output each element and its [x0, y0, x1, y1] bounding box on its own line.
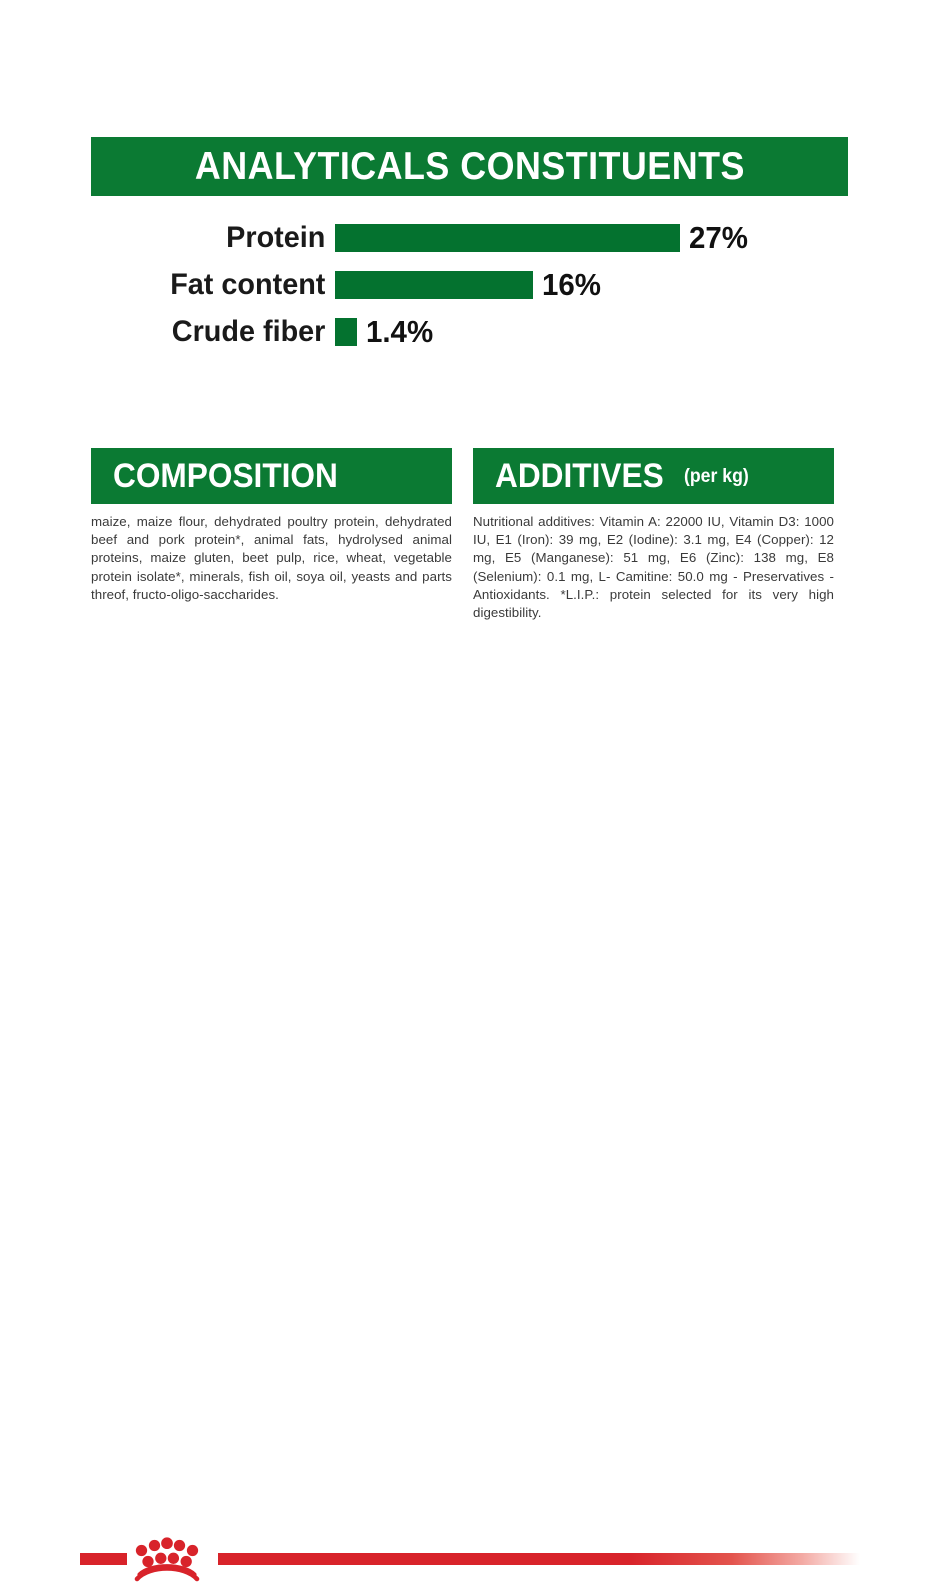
composition-text: maize, maize flour, dehydrated poultry p…	[91, 513, 452, 604]
composition-section: COMPOSITION maize, maize flour, dehydrat…	[91, 448, 452, 622]
bar-label-fat-content: Fat content	[101, 270, 335, 300]
composition-header-bar: COMPOSITION	[91, 448, 452, 504]
bar-track-crude-fiber: 1.4%	[335, 316, 848, 347]
additives-section: ADDITIVES (per kg) Nutritional additives…	[473, 448, 834, 622]
bar-value-fat-content: 16%	[542, 269, 601, 300]
additives-text: Nutritional additives: Vitamin A: 22000 …	[473, 513, 834, 622]
bar-label-protein: Protein	[101, 223, 335, 253]
footer-rule-right	[218, 1553, 860, 1565]
bar-label-crude-fiber: Crude fiber	[101, 317, 335, 347]
bar-value-protein: 27%	[689, 222, 748, 253]
additives-header-bar: ADDITIVES (per kg)	[473, 448, 834, 504]
additives-subheading: (per kg)	[684, 467, 749, 486]
footer-rule-left	[80, 1553, 127, 1565]
product-info-panel: ANALYTICALS CONSTITUENTS Protein 27% Fat…	[0, 0, 940, 940]
bar-track-protein: 27%	[335, 222, 848, 253]
chart-row-crude-fiber: Crude fiber 1.4%	[91, 308, 848, 355]
chart-row-protein: Protein 27%	[91, 214, 848, 261]
analytical-constituents-chart: Protein 27% Fat content 16% Crude fiber …	[91, 214, 848, 355]
page-title: ANALYTICALS CONSTITUENTS	[195, 147, 745, 186]
composition-heading: COMPOSITION	[113, 459, 338, 493]
analyticals-banner: ANALYTICALS CONSTITUENTS	[91, 137, 848, 196]
royal-canin-crown-icon	[128, 1534, 206, 1582]
bar-fill-crude-fiber	[335, 318, 357, 346]
bar-track-fat-content: 16%	[335, 269, 848, 300]
bar-fill-protein	[335, 224, 680, 252]
details-columns: COMPOSITION maize, maize flour, dehydrat…	[91, 448, 848, 622]
chart-row-fat-content: Fat content 16%	[91, 261, 848, 308]
brand-footer	[0, 770, 940, 820]
additives-heading: ADDITIVES	[495, 459, 664, 493]
bar-fill-fat-content	[335, 271, 533, 299]
bar-value-crude-fiber: 1.4%	[366, 316, 433, 347]
